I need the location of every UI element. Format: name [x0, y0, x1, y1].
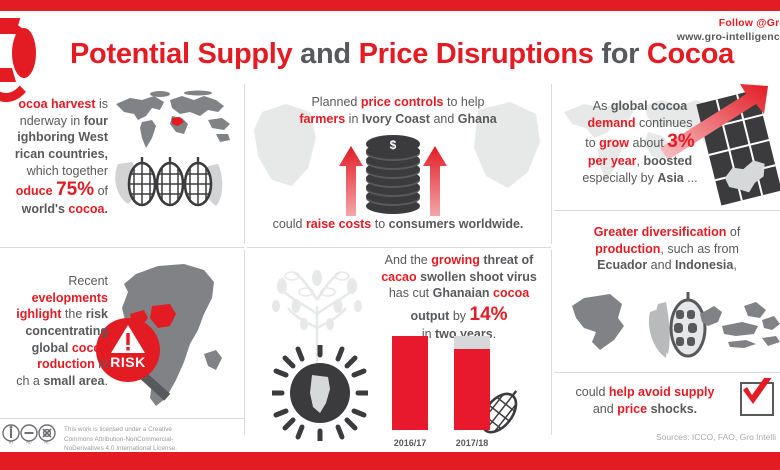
pc-f-b: raise costs: [306, 217, 371, 231]
v-l1b: growing: [431, 253, 480, 267]
dv-f-c: and: [593, 402, 617, 416]
pc-l2c: Ivory Coast: [362, 112, 430, 126]
dv-l3a: Ecuador: [597, 258, 647, 272]
dv-l3c: Indonesia: [675, 258, 733, 272]
risk-l2: evelopments: [32, 291, 108, 305]
cc-badge-nc: NC: [44, 441, 50, 445]
output-bar-chart: 2016/17 2017/18: [388, 336, 508, 448]
d-l5a: especially by: [582, 171, 657, 185]
harvest-l1a: ocoa harvest: [18, 97, 95, 111]
dv-l2b: , such as from: [660, 242, 739, 256]
v-l4b: by: [449, 309, 469, 323]
risk-l5b: cocoa: [72, 341, 108, 355]
pc-f-c: to: [371, 217, 388, 231]
coin-stack-icon: $: [363, 134, 423, 216]
follow-handle[interactable]: Follow @Gro: [677, 16, 780, 30]
warning-triangle-icon: [110, 324, 146, 354]
dv-l1a: Greater diversification: [594, 225, 727, 239]
dv-l3d: ,: [733, 258, 736, 272]
v-pct: 14%: [470, 304, 508, 325]
d-l1b: global cocoa: [611, 99, 687, 113]
d-l2a: demand: [588, 116, 636, 130]
title-part-1: Potential Supply: [70, 38, 300, 70]
license-line-2: Commons Attribution-NonCommercial-: [64, 435, 239, 445]
dv-l3b: and: [647, 258, 675, 272]
pc-l2b: in: [345, 112, 362, 126]
up-arrow-icon-2: [422, 146, 448, 216]
diversification-footer: could help avoid supply and price shocks…: [556, 384, 734, 417]
page-title: Potential Supply and Price Disruptions f…: [70, 38, 770, 71]
sources-text: Sources: ICCO, FAO, Gro Intelli: [656, 432, 776, 442]
divider-right-horizontal: [554, 210, 780, 211]
pc-l2d: and: [430, 112, 458, 126]
harvest-l2a: nderway in: [20, 114, 84, 128]
checkmark-icon: [740, 378, 774, 408]
risk-l6b: in: [95, 357, 108, 371]
bar-label-2017-18: 2017/18: [449, 438, 495, 448]
price-controls-headline: Planned price controls to help farmers i…: [250, 94, 546, 127]
d-l3a: to: [585, 136, 599, 150]
v-l3a: has cut: [389, 286, 433, 300]
cc-badge-by: BY: [9, 441, 14, 445]
west-africa-highlight: [112, 90, 238, 152]
cocoa-pod-row: [112, 152, 224, 214]
d-l3b: grow: [599, 136, 629, 150]
v-l3c: cocoa: [493, 286, 529, 300]
magnifier-risk-icon: RISK: [96, 318, 180, 404]
title-part-4: for: [601, 38, 647, 70]
risk-l1: Recent: [68, 274, 108, 288]
harvest-l7c: .: [105, 202, 108, 216]
cc-badge-icons: BY ND NC: [2, 424, 58, 444]
pc-l1c: to help: [444, 95, 485, 109]
risk-l7c: .: [105, 374, 108, 388]
virus-ghana-icon: [272, 345, 368, 441]
bar-label-2016-17: 2016/17: [387, 438, 433, 448]
d-l4b: ,: [637, 154, 644, 168]
risk-l4: concentrating: [25, 324, 108, 338]
infographic-poster: Follow @Gro www.gro-intelligence Potenti…: [0, 0, 780, 470]
logo-o-shape: [12, 28, 36, 78]
d-l2b: continues: [635, 116, 692, 130]
harvest-l2b: four: [84, 114, 108, 128]
pc-f-e: .: [520, 217, 523, 231]
harvest-pct: 75%: [56, 179, 94, 200]
harvest-l6a: oduce: [16, 184, 56, 198]
risk-l6a: roduction: [37, 357, 95, 371]
creative-commons-block: BY ND NC This work is licensed under a C…: [2, 424, 217, 450]
risk-l3c: risk: [86, 307, 108, 321]
harvest-text: ocoa harvest is nderway in four ighborin…: [0, 96, 108, 218]
harvest-l6c: of: [94, 184, 108, 198]
pc-f-a: could: [273, 217, 306, 231]
harvest-l3: ighboring West: [17, 130, 108, 144]
pc-l2a: farmers: [299, 112, 345, 126]
divider-left-horizontal: [0, 247, 244, 248]
harvest-l4: rican countries,: [15, 147, 108, 161]
divider-left-top: [244, 84, 245, 244]
license-text: This work is licensed under a Creative C…: [64, 425, 239, 454]
d-l5c: ...: [684, 171, 698, 185]
d-pct: 3%: [667, 131, 694, 152]
bar-2016-17: [392, 336, 428, 430]
bar-2016-17-red: [392, 336, 428, 430]
harvest-l7a: world's: [22, 202, 69, 216]
risk-l7a: ch a: [16, 374, 43, 388]
divider-center-horizontal: [247, 247, 551, 248]
title-part-2: and: [300, 38, 358, 70]
title-part-3: Price Disruptions: [359, 38, 602, 70]
pc-f-d: consumers worldwide: [389, 217, 520, 231]
harvest-l7b: cocoa: [68, 202, 104, 216]
ecuador-map: [570, 292, 634, 364]
top-red-bar: [0, 0, 780, 11]
dv-f-f: .: [694, 402, 697, 416]
risk-l5a: global: [32, 341, 72, 355]
dv-f-a: could: [576, 385, 609, 399]
dv-l1b: of: [726, 225, 740, 239]
d-l4c: boosted: [644, 154, 693, 168]
coin-dollar-symbol: $: [390, 138, 397, 152]
bar-2017-18-gray: [454, 336, 490, 349]
d-l1a: As: [593, 99, 611, 113]
divider-right-horizontal-2: [554, 372, 780, 373]
dv-f-b: help avoid supply: [609, 385, 715, 399]
d-l4a: per year: [588, 154, 637, 168]
divider-left-bottom: [244, 250, 245, 435]
diversification-text: Greater diversification of production, s…: [556, 224, 778, 274]
dv-f-e: shocks: [647, 402, 694, 416]
v-l3b: Ghanaian: [433, 286, 493, 300]
price-controls-footer: could raise costs to consumers worldwide…: [250, 216, 546, 233]
dv-l2a: production: [595, 242, 660, 256]
up-arrow-icon: [338, 146, 364, 216]
v-l2a: cacao: [381, 270, 416, 284]
v-l4a: output: [410, 309, 449, 323]
v-l1a: And the: [385, 253, 432, 267]
license-line-1: This work is licensed under a Creative: [64, 425, 239, 435]
pc-l2e: Ghana: [458, 112, 497, 126]
pc-l1b: price controls: [361, 95, 444, 109]
risk-l7b: small area: [43, 374, 104, 388]
d-l3c: about: [629, 136, 667, 150]
pc-l1a: Planned: [311, 95, 360, 109]
divider-right-top: [551, 84, 552, 244]
demand-text: As global cocoa demand continues to grow…: [556, 98, 724, 186]
bottom-red-bar: [0, 452, 780, 470]
indonesia-map: [698, 300, 780, 354]
cc-badge-nd: ND: [26, 441, 32, 445]
gro-intelligence-logo: [0, 20, 50, 86]
title-part-5: Cocoa: [647, 38, 734, 70]
bar-2017-18: [454, 336, 490, 430]
harvest-l1b: is: [96, 97, 109, 111]
dv-f-d: price: [617, 402, 647, 416]
risk-text: Recent evelopments ighlight the risk con…: [0, 273, 108, 389]
virus-text: And the growing threat of cacao swollen …: [366, 252, 552, 342]
d-l5b: Asia: [657, 171, 683, 185]
v-l2b: swollen shoot virus: [417, 270, 537, 284]
divider-footer: [0, 418, 244, 419]
v-l1c: threat of: [480, 253, 533, 267]
bar-2017-18-red: [454, 349, 490, 430]
risk-l3a: ighlight: [16, 307, 61, 321]
checkbox-checked-icon[interactable]: [740, 382, 774, 416]
harvest-l5: which together: [27, 164, 108, 178]
risk-l3b: the: [61, 307, 85, 321]
